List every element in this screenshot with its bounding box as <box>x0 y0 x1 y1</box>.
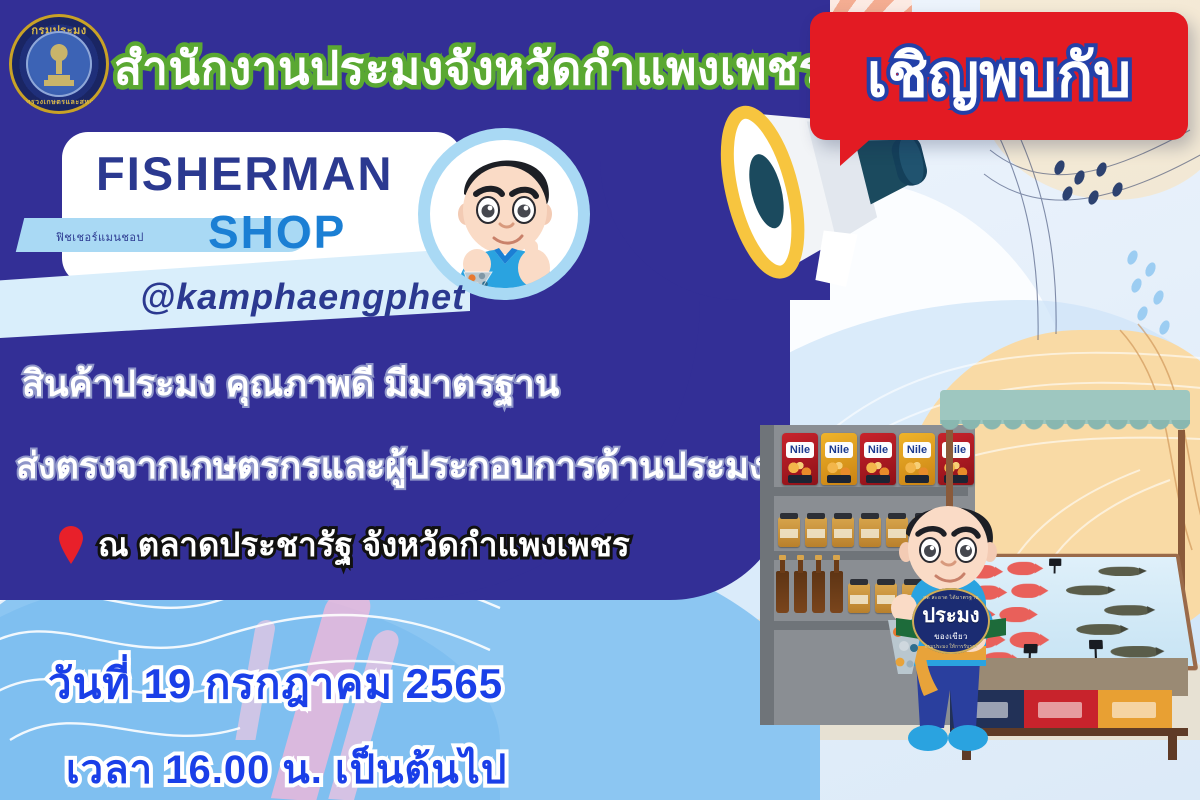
snack-band <box>788 475 812 483</box>
snack-pack: Nile <box>899 433 935 485</box>
fish-catfish <box>1104 605 1149 615</box>
product-jar <box>805 517 827 547</box>
event-time: เวลา 16.00 น. เป็นต้นไป <box>66 737 507 800</box>
badge-top-label: สด สะอาด ได้มาตรฐาน <box>898 594 1004 602</box>
crate-label <box>1038 702 1082 718</box>
snack-pack: Nile <box>860 433 896 485</box>
fish-catfish <box>1066 585 1109 595</box>
stall-leg-right <box>1168 734 1177 760</box>
tagline-line-1: สินค้าประมง คุณภาพดี มีมาตรฐาน <box>22 355 559 412</box>
invite-bubble: เชิญพบกับ <box>810 12 1188 140</box>
brand-name-line2: SHOP <box>208 205 346 259</box>
price-tag-icon <box>1089 640 1103 649</box>
product-jar <box>832 517 854 547</box>
badge-bottom-label: กรมประมง ให้การรับรอง <box>898 643 1004 651</box>
sauce-bottle <box>776 571 789 613</box>
brand-name-line1: FISHERMAN <box>96 146 393 201</box>
brand-mascot-circle <box>430 140 578 288</box>
snack-brand-label: Nile <box>825 442 853 458</box>
snack-pack: Nile <box>782 433 818 485</box>
badge-sub-label: ของเขียว <box>898 630 1004 643</box>
seal-inner-disc <box>26 31 92 97</box>
stall-awning <box>940 390 1190 424</box>
poster-root: กรมประมง กระทรวงเกษตรและสหกรณ์ สำนักงานป… <box>0 0 1200 800</box>
venue-row: ณ ตลาดประชารัฐ จังหวัดกำแพงเพชร <box>58 518 630 571</box>
tagline-line-2: ส่งตรงจากเกษตรกรและผู้ประกอบการด้านประมง <box>16 437 767 494</box>
stall-awning-scallop <box>940 420 1190 436</box>
sauce-bottle <box>812 571 825 613</box>
snack-band <box>905 475 929 483</box>
department-seal: กรมประมง กระทรวงเกษตรและสหกรณ์ <box>9 14 109 114</box>
seal-bottom-label: กระทรวงเกษตรและสหกรณ์ <box>9 97 109 108</box>
snack-brand-label: Nile <box>786 442 814 458</box>
badge-main-label: ประมง <box>898 606 1004 626</box>
brand-thai-subtitle: ฟิชเชอร์แมนชอป <box>56 228 144 246</box>
brand-handle: @kamphaengphet <box>140 276 465 318</box>
invite-label: เชิญพบกับ <box>867 46 1131 106</box>
shelf-side-panel <box>760 425 774 725</box>
snack-band <box>827 475 851 483</box>
fisherman-mascot-icon <box>430 140 578 288</box>
event-date: วันที่ 19 กรกฎาคม 2565 <box>48 651 503 717</box>
seal-emblem-icon <box>42 43 76 87</box>
snack-brand-label: Nile <box>864 442 892 458</box>
location-pin-icon <box>58 526 84 564</box>
fish-catfish <box>1076 624 1122 635</box>
fish-catfish <box>1098 567 1141 576</box>
venue-label: ณ ตลาดประชารัฐ จังหวัดกำแพงเพชร <box>98 518 630 571</box>
sauce-bottle <box>794 571 807 613</box>
crate-label <box>1112 702 1156 718</box>
snack-brand-label: Nile <box>903 442 931 458</box>
snack-band <box>866 475 890 483</box>
sauce-bottle <box>830 571 843 613</box>
price-tag-icon <box>1049 559 1061 566</box>
product-jar <box>778 517 800 547</box>
fish-catfish <box>1110 646 1158 657</box>
crate-orange <box>1098 690 1172 732</box>
quality-badge: สด สะอาด ได้มาตรฐาน ประมง ของเขียว กรมปร… <box>898 588 1004 660</box>
snack-pack: Nile <box>821 433 857 485</box>
